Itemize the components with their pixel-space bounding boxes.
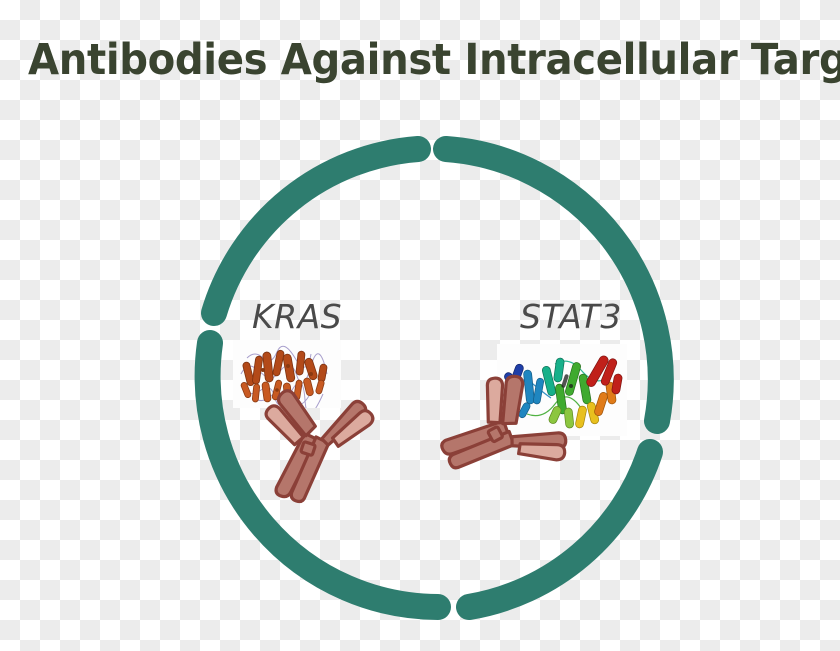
ring-segment-top-left — [214, 149, 418, 313]
figure-canvas: Antibodies Against Intracellular Targets… — [0, 0, 840, 651]
gene-label-kras: KRAS — [252, 297, 342, 336]
gene-label-stat3: STAT3 — [520, 297, 622, 336]
page-title: Antibodies Against Intracellular Targets — [28, 30, 780, 90]
